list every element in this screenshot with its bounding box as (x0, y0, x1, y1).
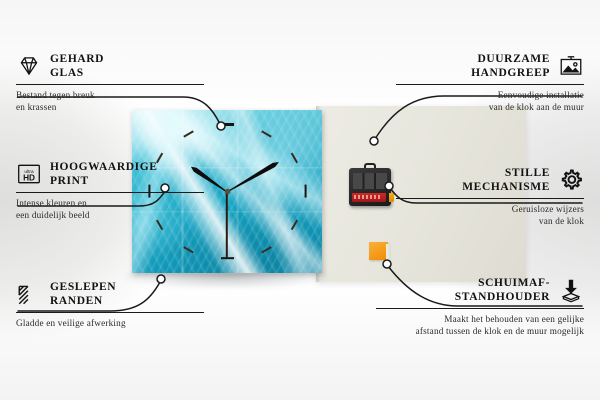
clock-tick (183, 130, 193, 137)
foam-spacer-pad-side (386, 244, 391, 262)
feature-geslepen-randen: GESLEPENRANDEN Gladde en veilige afwerki… (16, 280, 204, 329)
clock-tick (261, 246, 271, 253)
feature-description: Eenvoudige installatievan de klok aan de… (396, 89, 584, 113)
picture-frame-icon (558, 53, 584, 79)
clock-tick (304, 185, 306, 198)
feature-head: GEHARDGLAS (16, 52, 204, 80)
feature-title: STILLEMECHANISME (462, 166, 550, 194)
feature-head: SCHUIMAF-STANDHOUDER (376, 276, 584, 304)
feature-title: SCHUIMAF-STANDHOUDER (455, 276, 550, 304)
gear-icon (558, 167, 584, 193)
feature-hoogwaardige-print: ultra HD HOOGWAARDIGEPRINT Intense kleur… (16, 160, 204, 221)
mechanism-battery (352, 193, 386, 202)
svg-text:HD: HD (23, 174, 35, 183)
product-infographic: GEHARDGLAS Bestand tegen breuken krassen… (0, 0, 600, 400)
feature-gehard-glas: GEHARDGLAS Bestand tegen breuken krassen (16, 52, 204, 113)
feature-title: HOOGWAARDIGEPRINT (50, 160, 158, 188)
feature-rule (396, 198, 584, 199)
mechanism-face-detail (353, 173, 387, 189)
hand-minute (226, 159, 280, 193)
clock-tick (156, 220, 163, 230)
clock-tick (291, 153, 298, 163)
feature-description: Intense kleuren eneen duidelijk beeld (16, 197, 204, 221)
arrow-into-pad-icon (558, 277, 584, 303)
clock-mechanism (349, 168, 391, 206)
feature-duurzame-handgreep: DUURZAMEHANDGREEP Eenvoudige installatie… (396, 52, 584, 113)
feature-rule (16, 312, 204, 313)
feature-rule (16, 192, 204, 193)
feature-schuimafstandhouder: SCHUIMAF-STANDHOUDER Maakt het behouden … (376, 276, 584, 337)
feature-rule (376, 308, 584, 309)
feature-title: GESLEPENRANDEN (50, 280, 116, 308)
clock-tick (183, 246, 193, 253)
clock-tick (291, 220, 298, 230)
clock-tick (221, 123, 234, 125)
feature-head: STILLEMECHANISME (396, 166, 584, 194)
feature-rule (396, 84, 584, 85)
feature-description: Bestand tegen breuken krassen (16, 89, 204, 113)
diamond-icon (16, 53, 42, 79)
feature-stille-mechanisme: STILLEMECHANISME Geruisloze wijzersvan d… (396, 166, 584, 227)
feature-title: DUURZAMEHANDGREEP (471, 52, 550, 80)
feature-rule (16, 84, 204, 85)
feature-description: Geruisloze wijzersvan de klok (396, 203, 584, 227)
ultra-hd-icon: ultra HD (16, 161, 42, 187)
feature-description: Gladde en veilige afwerking (16, 317, 204, 329)
feature-head: DUURZAMEHANDGREEP (396, 52, 584, 80)
hand-second (226, 192, 228, 258)
feature-head: ultra HD HOOGWAARDIGEPRINT (16, 160, 204, 188)
feature-description: Maakt het behouden van een gelijkeafstan… (376, 313, 584, 337)
clock-tick (261, 130, 271, 137)
mechanism-body (349, 168, 391, 206)
feature-head: GESLEPENRANDEN (16, 280, 204, 308)
battery-label (354, 195, 380, 199)
battery-terminal (389, 193, 394, 202)
feature-title: GEHARDGLAS (50, 52, 104, 80)
clock-hand-cap (225, 189, 230, 194)
bevelled-edges-icon (16, 281, 42, 307)
